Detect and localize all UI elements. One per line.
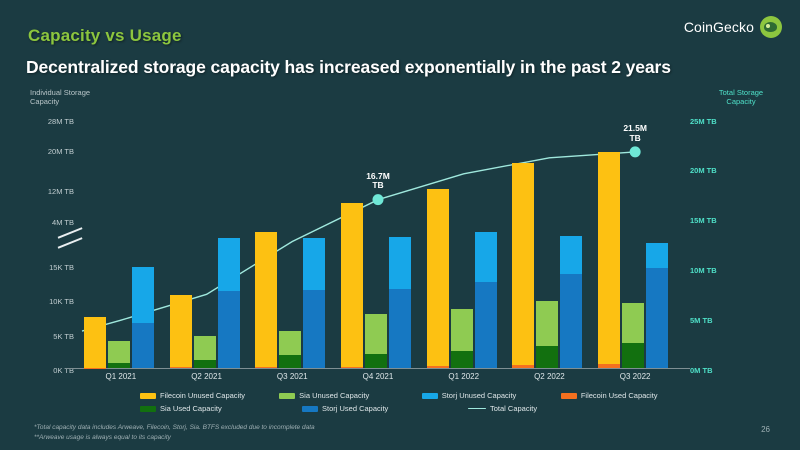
legend-item-filecoin-unused-capacity[interactable]: Filecoin Unused Capacity [140, 391, 265, 400]
legend-item-sia-used-capacity[interactable]: Sia Used Capacity [140, 404, 288, 413]
right-tick-2: 15M TB [690, 216, 750, 225]
segment-filecoin-used [512, 365, 534, 368]
segment-storj-unused [389, 237, 411, 289]
bar-sia-q2-2022 [536, 301, 558, 368]
bar-group-q2-2021 [164, 116, 250, 368]
left-tick-0: 28M TB [26, 117, 74, 126]
segment-storj-used [389, 289, 411, 368]
legend-label: Sia Unused Capacity [299, 391, 369, 400]
legend-label: Sia Used Capacity [160, 404, 222, 413]
x-tick-1: Q2 2021 [167, 372, 247, 381]
bar-storj-q1-2022 [475, 232, 497, 368]
left-tick-2: 12M TB [26, 187, 74, 196]
bar-storj-q2-2022 [560, 236, 582, 368]
legend-item-sia-unused-capacity[interactable]: Sia Unused Capacity [279, 391, 408, 400]
coingecko-logo: CoinGecko [684, 16, 782, 38]
x-tick-4: Q1 2022 [424, 372, 504, 381]
bar-storj-q2-2021 [218, 238, 240, 368]
segment-sia-unused [279, 331, 301, 354]
bar-filecoin-q1-2021 [84, 317, 106, 368]
segment-filecoin-used [341, 367, 363, 368]
segment-filecoin-unused [84, 317, 106, 367]
bar-storj-q3-2022 [646, 243, 668, 368]
segment-filecoin-unused [512, 163, 534, 366]
point-label-3: 16.7M TB [351, 172, 405, 192]
segment-storj-unused [132, 267, 154, 323]
legend-item-storj-unused-capacity[interactable]: Storj Unused Capacity [422, 391, 547, 400]
footnote-1: *Total capacity data includes Arweave, F… [34, 423, 315, 433]
bar-sia-q2-2021 [194, 336, 216, 368]
legend-swatch-line-icon [468, 408, 486, 409]
bar-filecoin-q2-2021 [170, 295, 192, 368]
bar-sia-q4-2021 [365, 314, 387, 368]
slide-kicker: Capacity vs Usage [28, 26, 182, 46]
segment-sia-used [536, 346, 558, 368]
segment-storj-unused [475, 232, 497, 282]
legend-swatch-box-icon [302, 406, 318, 412]
segment-storj-unused [218, 238, 240, 291]
segment-storj-used [560, 274, 582, 368]
segment-storj-used [218, 291, 240, 368]
x-tick-3: Q4 2021 [338, 372, 418, 381]
bar-sia-q1-2022 [451, 309, 473, 368]
segment-storj-used [132, 323, 154, 368]
left-tick-4: 15K TB [26, 263, 74, 272]
segment-storj-used [303, 290, 325, 368]
legend-swatch-box-icon [422, 393, 438, 399]
bar-storj-q3-2021 [303, 238, 325, 368]
bar-group-q3-2021 [249, 116, 335, 368]
legend-swatch-box-icon [140, 393, 156, 399]
segment-sia-unused [451, 309, 473, 351]
legend-item-storj-used-capacity[interactable]: Storj Used Capacity [302, 404, 454, 413]
plot-area: 16.7M TB21.5M TB [78, 116, 678, 368]
slide-headline: Decentralized storage capacity has incre… [26, 57, 671, 78]
x-axis-baseline [66, 368, 690, 369]
x-tick-6: Q3 2022 [595, 372, 675, 381]
bar-filecoin-q1-2022 [427, 189, 449, 368]
segment-sia-used [279, 355, 301, 369]
bar-group-q4-2021 [335, 116, 421, 368]
bar-filecoin-q4-2021 [341, 203, 363, 368]
right-tick-1: 20M TB [690, 166, 750, 175]
left-tick-6: 5K TB [26, 332, 74, 341]
segment-sia-unused [365, 314, 387, 354]
segment-filecoin-used [255, 367, 277, 368]
segment-filecoin-used [170, 367, 192, 368]
segment-storj-unused [303, 238, 325, 290]
segment-filecoin-unused [598, 152, 620, 364]
segment-filecoin-unused [255, 232, 277, 367]
bar-filecoin-q2-2022 [512, 163, 534, 368]
legend-item-total-capacity[interactable]: Total Capacity [468, 404, 616, 413]
bar-group-q1-2022 [421, 116, 507, 368]
segment-filecoin-used [427, 366, 449, 368]
right-tick-0: 25M TB [690, 117, 750, 126]
logo-text: CoinGecko [684, 19, 754, 35]
segment-filecoin-unused [427, 189, 449, 366]
left-axis-title: Individual Storage Capacity [30, 88, 116, 107]
segment-filecoin-used [598, 364, 620, 368]
segment-filecoin-used [84, 368, 106, 369]
legend-label: Filecoin Used Capacity [581, 391, 658, 400]
right-tick-3: 10M TB [690, 266, 750, 275]
legend-row-2: Sia Used CapacityStorj Used CapacityTota… [140, 404, 700, 417]
segment-storj-used [475, 282, 497, 368]
point-label-6: 21.5M TB [608, 124, 662, 144]
bar-storj-q4-2021 [389, 237, 411, 368]
segment-sia-used [451, 351, 473, 368]
bar-sia-q3-2021 [279, 331, 301, 368]
gecko-icon [760, 16, 782, 38]
segment-storj-unused [646, 243, 668, 268]
legend-label: Storj Used Capacity [322, 404, 388, 413]
left-tick-1: 20M TB [26, 147, 74, 156]
segment-storj-unused [560, 236, 582, 275]
legend-swatch-box-icon [561, 393, 577, 399]
segment-sia-used [108, 363, 130, 368]
segment-filecoin-unused [341, 203, 363, 367]
segment-sia-used [194, 360, 216, 368]
segment-sia-unused [194, 336, 216, 360]
x-tick-2: Q3 2021 [252, 372, 332, 381]
chart-legend: Filecoin Unused CapacitySia Unused Capac… [140, 391, 700, 417]
x-tick-0: Q1 2021 [81, 372, 161, 381]
legend-swatch-box-icon [140, 406, 156, 412]
left-tick-3: 4M TB [26, 218, 74, 227]
page-number: 26 [761, 425, 770, 434]
segment-sia-used [622, 343, 644, 368]
legend-label: Total Capacity [490, 404, 537, 413]
legend-label: Storj Unused Capacity [442, 391, 517, 400]
legend-item-filecoin-used-capacity[interactable]: Filecoin Used Capacity [561, 391, 686, 400]
segment-storj-used [646, 268, 668, 368]
left-tick-5: 10K TB [26, 297, 74, 306]
legend-swatch-box-icon [279, 393, 295, 399]
legend-row-1: Filecoin Unused CapacitySia Unused Capac… [140, 391, 700, 404]
segment-sia-unused [108, 341, 130, 363]
bar-storj-q1-2021 [132, 267, 154, 368]
bar-group-q2-2022 [507, 116, 593, 368]
segment-sia-unused [622, 303, 644, 343]
bar-filecoin-q3-2022 [598, 152, 620, 368]
bar-sia-q3-2022 [622, 303, 644, 368]
right-tick-4: 5M TB [690, 316, 750, 325]
bar-filecoin-q3-2021 [255, 232, 277, 368]
segment-sia-used [365, 354, 387, 368]
right-axis-title: Total Storage Capacity [698, 88, 784, 107]
x-tick-5: Q2 2022 [509, 372, 589, 381]
segment-filecoin-unused [170, 295, 192, 367]
segment-sia-unused [536, 301, 558, 347]
legend-label: Filecoin Unused Capacity [160, 391, 245, 400]
right-tick-5: 0M TB [690, 366, 750, 375]
slide-canvas: Capacity vs Usage Decentralized storage … [0, 0, 800, 450]
bar-group-q3-2022 [592, 116, 678, 368]
footnotes: *Total capacity data includes Arweave, F… [34, 423, 315, 443]
bar-sia-q1-2021 [108, 341, 130, 368]
bar-group-q1-2021 [78, 116, 164, 368]
footnote-2: **Arweave usage is always equal to its c… [34, 433, 315, 443]
